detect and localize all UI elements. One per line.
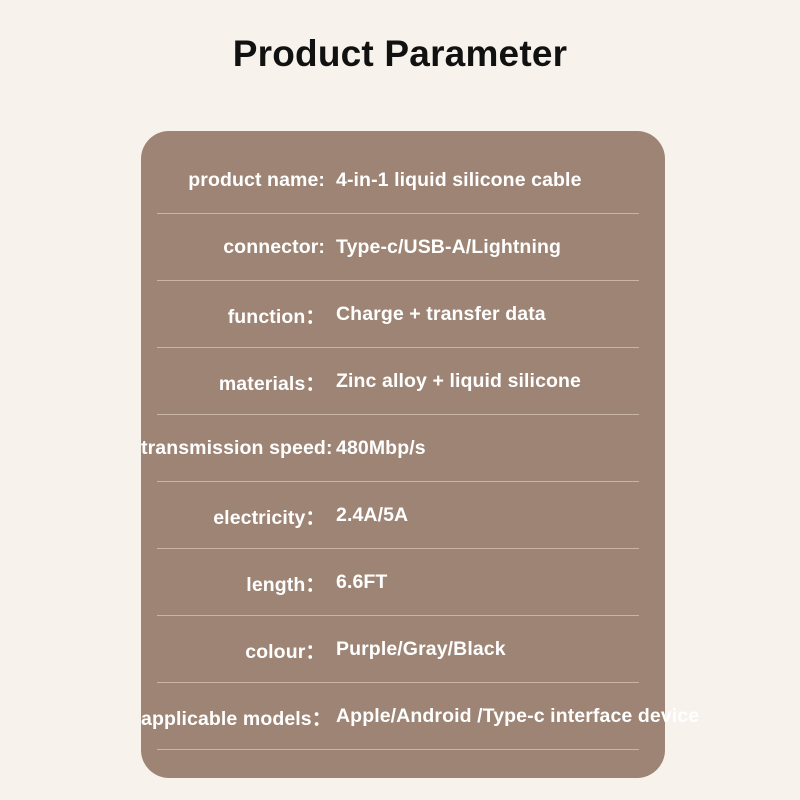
parameter-label: length： [141,568,325,597]
parameter-value: Purple/Gray/Black [325,638,506,661]
row-divider [157,749,639,750]
product-parameter-page: Product Parameter product name: 4-in-1 l… [0,0,800,800]
page-title: Product Parameter [0,34,800,75]
parameter-value: Zinc alloy + liquid silicone [325,370,581,393]
parameter-value: Charge + transfer data [325,303,546,326]
parameter-value: 2.4A/5A [325,504,408,527]
table-row: transmission speed: 480Mbp/s [141,415,665,482]
parameter-rows: product name: 4-in-1 liquid silicone cab… [141,147,665,750]
parameter-value: 480Mbp/s [325,437,426,460]
table-row: colour： Purple/Gray/Black [141,616,665,683]
parameter-label: colour： [141,635,325,664]
table-row: connector: Type-c/USB-A/Lightning [141,214,665,281]
table-row: electricity： 2.4A/5A [141,482,665,549]
parameter-value: Apple/Android /Type-c interface device [325,705,699,728]
parameter-value: 4-in-1 liquid silicone cable [325,169,582,192]
parameter-label: connector: [141,236,325,259]
parameter-card: product name: 4-in-1 liquid silicone cab… [141,131,665,778]
table-row: function： Charge + transfer data [141,281,665,348]
parameter-value: Type-c/USB-A/Lightning [325,236,561,259]
parameter-label: materials： [141,367,325,396]
table-row: product name: 4-in-1 liquid silicone cab… [141,147,665,214]
parameter-value: 6.6FT [325,571,387,594]
table-row: applicable models： Apple/Android /Type-c… [141,683,665,750]
parameter-label: function： [141,300,325,329]
parameter-label: product name: [141,169,325,192]
table-row: materials： Zinc alloy + liquid silicone [141,348,665,415]
table-row: length： 6.6FT [141,549,665,616]
parameter-label: electricity： [141,501,325,530]
parameter-label: transmission speed: [141,437,325,460]
parameter-label: applicable models： [141,702,325,731]
